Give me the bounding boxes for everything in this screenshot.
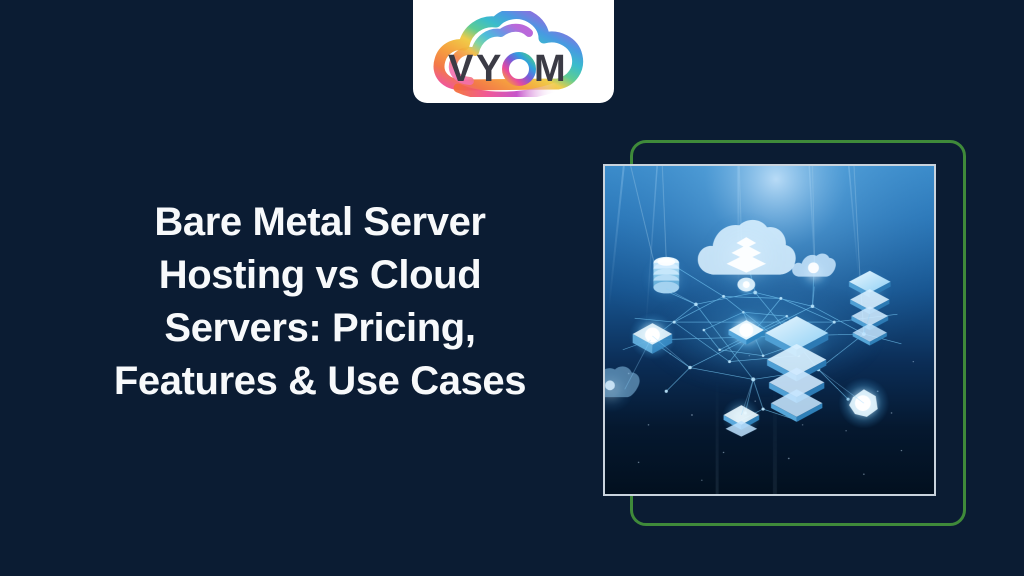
title-line-4: Features & Use Cases <box>40 355 600 408</box>
page-title: Bare Metal Server Hosting vs Cloud Serve… <box>40 196 600 408</box>
title-line-1: Bare Metal Server <box>40 196 600 249</box>
svg-text:Y: Y <box>476 48 502 90</box>
vyom-cloud-logo-icon: V Y M <box>430 11 598 97</box>
svg-text:V: V <box>448 48 474 90</box>
hero-image-panel <box>603 164 936 496</box>
title-line-2: Hosting vs Cloud <box>40 249 600 302</box>
brand-logo-card: V Y M <box>413 0 614 103</box>
title-line-3: Servers: Pricing, <box>40 302 600 355</box>
hero-image <box>605 166 934 494</box>
svg-text:M: M <box>534 48 567 90</box>
